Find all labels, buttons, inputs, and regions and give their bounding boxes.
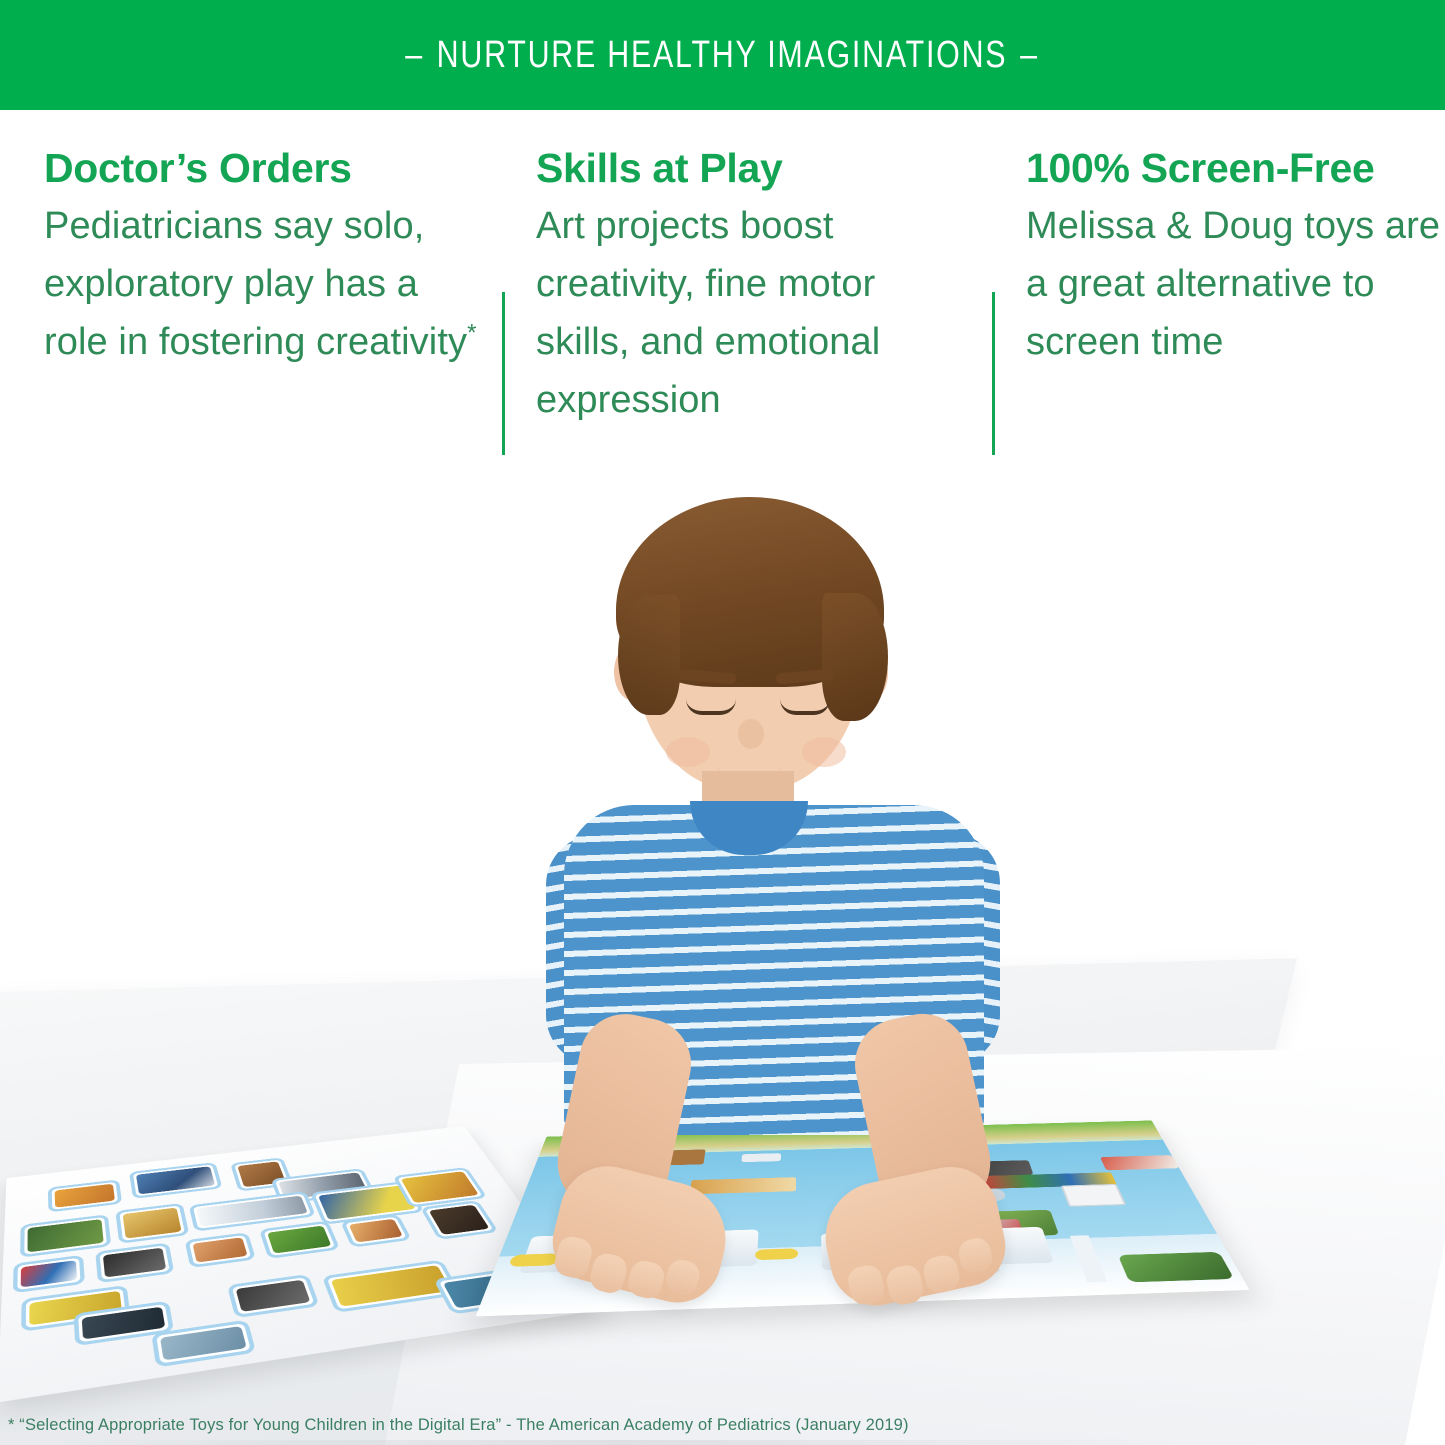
hair-left-side [618, 595, 680, 715]
benefit-heading: Skills at Play [536, 148, 976, 189]
sticker-item [115, 1203, 189, 1244]
scene-plane-icon [1100, 1155, 1179, 1170]
table-shadow [60, 1440, 1180, 1445]
benefit-column-doctors-orders: Doctor’s Orders Pediatricians say solo, … [44, 148, 484, 371]
sticker-item [340, 1214, 412, 1248]
sticker-item [185, 1232, 256, 1268]
scene-building-icon [1061, 1184, 1127, 1207]
banner-title: NURTURE HEALTHY IMAGINATIONS [437, 34, 1008, 76]
benefit-body: Pediatricians say solo, exploratory play… [44, 197, 484, 371]
benefit-body: Art projects boost creativity, fine moto… [536, 197, 976, 430]
finger [956, 1236, 994, 1276]
benefit-heading: 100% Screen-Free [1026, 148, 1445, 189]
child-figure [540, 475, 1010, 1115]
header-banner: –NURTURE HEALTHY IMAGINATIONS– [0, 0, 1445, 110]
hair-right-side [822, 593, 888, 721]
sticker-item [95, 1242, 174, 1283]
nose [738, 719, 764, 749]
sticker-item [129, 1162, 223, 1199]
banner-dash-left-icon: – [406, 34, 425, 77]
benefit-column-screen-free: 100% Screen-Free Melissa & Doug toys are… [1026, 148, 1445, 371]
sticker-item [13, 1255, 85, 1294]
sticker-item [420, 1200, 499, 1240]
cheek-right [802, 737, 846, 767]
sticker-item [227, 1274, 320, 1318]
sticker-item [20, 1214, 111, 1257]
footnote-citation: * “Selecting Appropriate Toys for Young … [8, 1416, 909, 1435]
benefits-columns: Doctor’s Orders Pediatricians say solo, … [0, 110, 1445, 460]
finger [921, 1253, 962, 1295]
benefit-body-text: Pediatricians say solo, exploratory play… [44, 205, 467, 363]
footnote-marker: * [467, 320, 476, 347]
banner-dash-right-icon: – [1021, 34, 1040, 77]
banner-title-wrap: –NURTURE HEALTHY IMAGINATIONS– [393, 34, 1052, 77]
finger [663, 1257, 702, 1298]
sticker-item [259, 1221, 340, 1259]
scene-taxi-icon [755, 1248, 798, 1260]
cheek-left [666, 737, 710, 767]
benefit-body: Melissa & Doug toys are a great alternat… [1026, 197, 1445, 371]
scene-trees-icon [1118, 1252, 1234, 1283]
benefit-heading: Doctor’s Orders [44, 148, 484, 189]
benefit-column-skills-at-play: Skills at Play Art projects boost creati… [536, 148, 976, 430]
product-photo [0, 455, 1445, 1445]
sticker-item [48, 1179, 122, 1212]
scene-boat-icon [741, 1153, 781, 1162]
